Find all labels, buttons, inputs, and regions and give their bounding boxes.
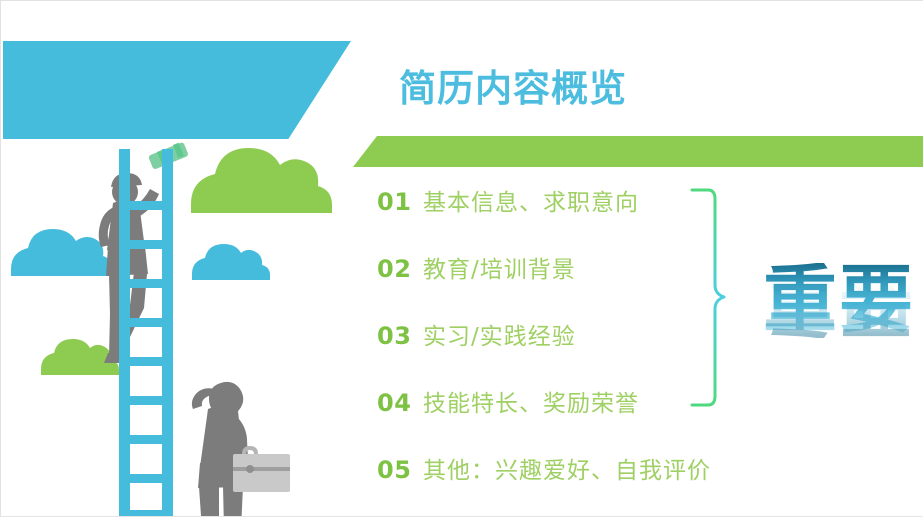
list-item-label: 实习/实践经验	[423, 317, 576, 351]
page-title: 简历内容概览	[399, 70, 627, 107]
list-item-label: 教育/培训背景	[423, 250, 576, 284]
list-item-number: 05	[377, 456, 423, 484]
list-item-number: 03	[377, 322, 423, 350]
emphasis-word-group: 重要 重要	[763, 263, 915, 398]
list-item-number: 04	[377, 389, 423, 417]
slide-canvas: 简历内容概览	[0, 0, 923, 517]
content-list: 01 基本信息、求职意向 02 教育/培训背景 03 实习/实践经验 04 技能…	[377, 183, 677, 517]
cloud-green-large	[191, 148, 332, 213]
cloud-blue-left	[11, 229, 113, 276]
list-item-number: 02	[377, 255, 423, 283]
illustration-climbing-ladder	[1, 141, 341, 517]
list-item[interactable]: 03 实习/实践经验	[377, 317, 677, 384]
list-item-label: 技能特长、奖励荣誉	[423, 384, 639, 418]
curly-brace-icon	[684, 187, 728, 409]
ladder-blue	[119, 149, 173, 517]
list-item[interactable]: 01 基本信息、求职意向	[377, 183, 677, 250]
cloud-blue-right	[192, 244, 270, 280]
list-item[interactable]: 05 其他：兴趣爱好、自我评价	[377, 451, 677, 517]
list-item[interactable]: 04 技能特长、奖励荣誉	[377, 384, 677, 451]
list-item[interactable]: 02 教育/培训背景	[377, 250, 677, 317]
green-banner-shape	[353, 136, 923, 167]
blue-banner-shape	[3, 41, 351, 139]
figure-standing-with-briefcase	[192, 382, 290, 517]
list-item-label: 其他：兴趣爱好、自我评价	[423, 451, 711, 485]
list-item-number: 01	[377, 188, 423, 216]
emphasis-word-reflection: 重要	[763, 264, 915, 338]
list-item-label: 基本信息、求职意向	[423, 183, 639, 217]
